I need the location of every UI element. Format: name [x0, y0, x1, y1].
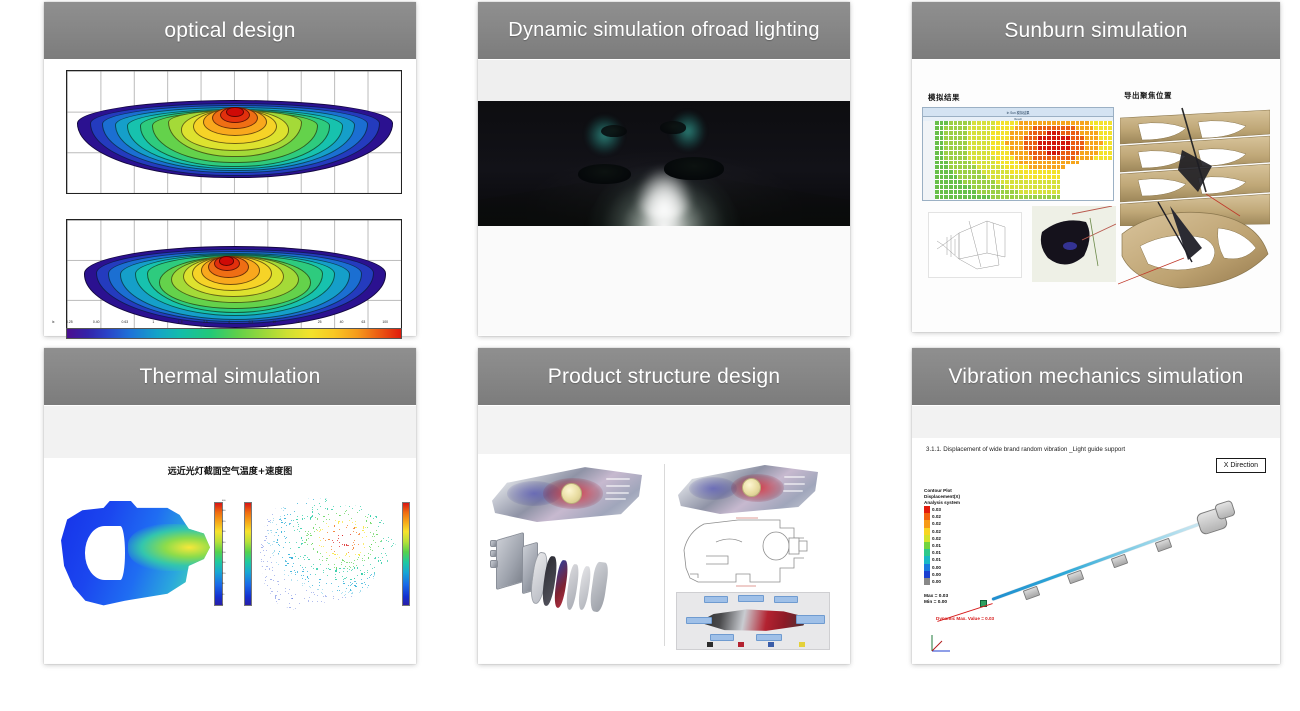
contour-scale-label: 0.00 [932, 572, 941, 577]
vector-dot [337, 554, 338, 555]
vector-dot [390, 523, 391, 524]
vector-dot [276, 595, 277, 596]
vector-dot [378, 607, 379, 608]
vector-dot [325, 596, 326, 597]
vector-dot [306, 503, 307, 504]
vector-dot [387, 561, 388, 562]
support-end-cap [1214, 500, 1236, 521]
vector-dot [382, 591, 383, 592]
vector-dot [376, 602, 377, 603]
vector-dot [371, 607, 372, 608]
vector-dot [264, 555, 265, 556]
vector-dot [307, 516, 308, 517]
vector-dot [335, 520, 336, 521]
vector-dot [358, 598, 359, 599]
vector-dot [367, 572, 368, 573]
vector-dot [374, 567, 375, 568]
panel-body-road-lighting [478, 60, 850, 335]
vector-dot [294, 499, 295, 500]
vector-dot [346, 527, 347, 528]
vector-dot [346, 577, 347, 578]
vector-dot [394, 550, 395, 551]
vector-dot [334, 525, 335, 526]
vector-dot [357, 512, 358, 513]
vector-dot [395, 503, 396, 504]
thermal-caption: 远近光灯截面空气温度+速度图 [44, 464, 416, 477]
vector-dot [294, 511, 295, 512]
vector-dot [264, 526, 265, 527]
vector-dot [358, 557, 359, 558]
vector-dot [360, 503, 361, 504]
colorbar-ticks: 0.250.400.63 11.62.5 46.310 162540 63100 [66, 320, 402, 328]
vector-dot [319, 527, 320, 528]
vector-dot [356, 583, 357, 584]
section-svg [676, 516, 828, 588]
vector-dot [267, 593, 268, 594]
vector-dot [278, 599, 279, 600]
vector-dot [352, 549, 353, 550]
vector-dot [325, 508, 326, 509]
velocity-vector-field [256, 494, 396, 612]
vector-dot [283, 497, 284, 498]
vector-dot [257, 523, 258, 524]
contour-scale-swatch [924, 549, 930, 556]
vector-dot [321, 546, 322, 547]
vector-dot [351, 518, 352, 519]
vector-dot [384, 585, 385, 586]
vector-dot [393, 578, 394, 579]
vector-dot [320, 530, 321, 531]
vector-dot [388, 609, 389, 610]
vector-dot [318, 497, 319, 498]
vector-dot [267, 566, 268, 567]
vector-dot [294, 570, 295, 571]
vector-dot [384, 579, 385, 580]
vector-dot [292, 598, 293, 599]
vector-dot [256, 602, 257, 603]
vector-dot [321, 610, 322, 611]
vector-dot [339, 529, 340, 530]
vector-dot [313, 610, 314, 611]
vector-dot [277, 591, 278, 592]
wireframe-thumbnail [928, 212, 1022, 278]
vector-dot [393, 518, 394, 519]
vector-dot [300, 565, 301, 566]
bracket-cad-illustration [1118, 200, 1272, 296]
vector-dot [352, 522, 353, 523]
vector-dot [329, 555, 330, 556]
vector-dot [379, 522, 380, 523]
vector-dot [383, 583, 384, 584]
vector-dot [378, 603, 379, 604]
vector-dot [345, 597, 346, 598]
vector-dot [388, 577, 389, 578]
vector-dot [256, 535, 257, 536]
vector-dot [275, 603, 276, 604]
vector-dot [259, 521, 260, 522]
vector-dot [339, 494, 340, 495]
vector-dot [278, 503, 279, 504]
panel-optical-design[interactable]: optical design [44, 2, 416, 336]
vector-dot [333, 598, 334, 599]
vector-dot [376, 501, 377, 502]
vector-dot [294, 530, 295, 531]
coordinate-triad [928, 631, 954, 655]
vector-dot [361, 497, 362, 498]
vector-dot [280, 516, 281, 517]
vector-dot [335, 579, 336, 580]
vector-dot [355, 586, 356, 587]
vector-dot [352, 508, 353, 509]
vector-dot [302, 571, 303, 572]
vector-dot [290, 523, 291, 524]
temperature-legend-ticks: 400360320280240 20016012080400 [222, 500, 225, 606]
vector-dot [323, 546, 324, 547]
vector-dot [276, 524, 277, 525]
vector-dot [382, 606, 383, 607]
vector-dot [364, 532, 365, 533]
vector-dot [360, 552, 361, 553]
vector-dot [294, 553, 295, 554]
vector-dot [302, 518, 303, 519]
vector-dot [365, 516, 366, 517]
vector-dot [290, 548, 291, 549]
vector-dot [283, 547, 284, 548]
contour-scale-row: 0.00 [924, 564, 941, 571]
vector-dot [293, 520, 294, 521]
vector-dot [394, 611, 395, 612]
vector-dot [348, 552, 349, 553]
vector-dot [384, 580, 385, 581]
vector-dot [352, 545, 353, 546]
vector-dot [287, 563, 288, 564]
vector-dot [369, 609, 370, 610]
vector-dot [367, 592, 368, 593]
vector-dot [371, 601, 372, 602]
lens-rib [606, 478, 630, 480]
vector-dot [295, 608, 296, 609]
vector-dot [350, 585, 351, 586]
vector-dot [353, 608, 354, 609]
vector-dot [378, 574, 379, 575]
vector-dot [383, 538, 384, 539]
vector-dot [326, 523, 327, 524]
vector-dot [281, 508, 282, 509]
vector-dot [291, 579, 292, 580]
vector-dot [281, 531, 282, 532]
contour-legend-title: Contour Plot Displacement(X) Analysis sy… [924, 488, 960, 505]
vector-dot [313, 549, 314, 550]
vector-dot [349, 556, 350, 557]
vector-dot [378, 570, 379, 571]
vector-dot [304, 598, 305, 599]
vector-dot [308, 531, 309, 532]
vector-dot [390, 527, 391, 528]
vector-dot [376, 600, 377, 601]
vector-dot [278, 500, 279, 501]
vector-dot [284, 574, 285, 575]
vector-dot [321, 601, 322, 602]
vector-dot [260, 605, 261, 606]
vector-dot [350, 589, 351, 590]
vector-dot [384, 588, 385, 589]
vector-dot [310, 574, 311, 575]
vector-dot [356, 565, 357, 566]
vector-dot [392, 545, 393, 546]
vector-dot [316, 605, 317, 606]
vector-dot [263, 581, 264, 582]
vector-dot [356, 610, 357, 611]
vector-dot [312, 585, 313, 586]
vector-dot [301, 575, 302, 576]
panel-road-lighting[interactable]: Dynamic simulation of road lighting [478, 2, 850, 336]
panel-title-thermal: Thermal simulation [44, 348, 416, 406]
vector-dot [322, 560, 323, 561]
vector-dot [338, 535, 339, 536]
vector-dot [263, 528, 264, 529]
vector-dot [278, 497, 279, 498]
vector-dot [326, 519, 327, 520]
vector-dot [288, 575, 289, 576]
contour-scale-label: 0.03 [932, 507, 941, 512]
contour-scale-row: 0.02 [924, 513, 941, 520]
vector-dot [372, 568, 373, 569]
contour-scale-label: 0.00 [932, 579, 941, 584]
vector-dot [354, 596, 355, 597]
vector-dot [293, 526, 294, 527]
vector-dot [366, 536, 367, 537]
vector-dot [289, 589, 290, 590]
vector-dot [361, 573, 362, 574]
vector-dot [362, 537, 363, 538]
vector-dot [336, 610, 337, 611]
vector-dot [257, 519, 258, 520]
vector-dot [261, 510, 262, 511]
vector-dot [292, 566, 293, 567]
vector-dot [270, 522, 271, 523]
vector-dot [295, 495, 296, 496]
vector-dot [378, 560, 379, 561]
vector-dot [317, 601, 318, 602]
vector-dot [353, 531, 354, 532]
vector-dot [266, 550, 267, 551]
vector-dot [349, 502, 350, 503]
vector-dot [350, 534, 351, 535]
vector-dot [381, 575, 382, 576]
slide-band-top [44, 406, 416, 458]
vector-dot [335, 554, 336, 555]
vector-dot [389, 577, 390, 578]
vector-dot [384, 595, 385, 596]
vector-dot [358, 544, 359, 545]
panel-title-product-structure: Product structure design [478, 348, 850, 406]
vector-dot [354, 500, 355, 501]
vector-dot [272, 567, 273, 568]
vector-dot [305, 567, 306, 568]
vector-dot [377, 494, 378, 495]
vector-dot [313, 605, 314, 606]
panel-board: optical design [0, 0, 1300, 711]
heat-cell [1108, 195, 1113, 200]
vector-dot [371, 574, 372, 575]
vector-dot [297, 522, 298, 523]
vector-dot [363, 528, 364, 529]
vector-dot [269, 569, 270, 570]
vector-dot [356, 532, 357, 533]
vector-dot [395, 520, 396, 521]
vector-dot [319, 582, 320, 583]
vector-dot [375, 512, 376, 513]
tree-left [578, 164, 630, 184]
vector-dot [367, 578, 368, 579]
callout-tag [756, 634, 782, 641]
vector-dot [357, 575, 358, 576]
vector-dot [381, 568, 382, 569]
vector-dot [388, 594, 389, 595]
vector-dot [256, 510, 257, 511]
assembled-headlamp [492, 466, 642, 522]
vector-dot [311, 566, 312, 567]
vector-dot [285, 538, 286, 539]
slide-band-top [478, 406, 850, 454]
vector-dot [354, 540, 355, 541]
vector-dot [264, 600, 265, 601]
vector-dot [374, 611, 375, 612]
vector-dot [281, 499, 282, 500]
vector-dot [312, 509, 313, 510]
contour-scale-swatch [924, 571, 930, 578]
vector-dot [359, 592, 360, 593]
vector-dot [313, 592, 314, 593]
vector-dot [281, 607, 282, 608]
vector-dot [262, 573, 263, 574]
vector-dot [287, 514, 288, 515]
vector-dot [256, 580, 257, 581]
legend-swatch [738, 642, 744, 647]
vector-dot [310, 533, 311, 534]
vector-dot [288, 554, 289, 555]
vector-dot [360, 590, 361, 591]
contour-blob-lower [84, 246, 385, 325]
slide-band-top [478, 60, 850, 101]
vector-dot [367, 570, 368, 571]
vector-dot [337, 590, 338, 591]
vector-dot [363, 544, 364, 545]
tree-far-right [660, 121, 686, 134]
vector-dot [384, 602, 385, 603]
tree-far-left [601, 125, 627, 138]
panel-vibration-simulation[interactable]: Vibration mechanics simulation 3.1.1. Di… [912, 348, 1280, 664]
vector-dot [310, 587, 311, 588]
vector-dot [390, 573, 391, 574]
sunburn-heatmap-table[interactable]: In Sun 模拟结果 Result [922, 107, 1114, 201]
vector-dot [341, 564, 342, 565]
vector-dot [291, 580, 292, 581]
vector-dot [267, 494, 268, 495]
vector-dot [331, 549, 332, 550]
vector-dot [391, 607, 392, 608]
contour-scale-swatch [924, 535, 930, 542]
vector-dot [358, 534, 359, 535]
vector-dot [371, 544, 372, 545]
vector-dot [313, 568, 314, 569]
vector-dot [285, 522, 286, 523]
callout-tag [686, 617, 712, 625]
vector-dot [388, 537, 389, 538]
vector-dot [342, 608, 343, 609]
vector-dot [331, 509, 332, 510]
vector-dot [337, 540, 338, 541]
panel-product-structure[interactable]: Product structure design [478, 348, 850, 664]
vector-dot [341, 593, 342, 594]
vector-dot [394, 594, 395, 595]
vector-dot [312, 507, 313, 508]
panel-thermal-simulation[interactable]: Thermal simulation 远近光灯截面空气温度+速度图 400360… [44, 348, 416, 664]
vector-dot [345, 505, 346, 506]
vector-dot [306, 590, 307, 591]
vector-dot [264, 499, 265, 500]
vector-dot [374, 558, 375, 559]
vector-dot [257, 495, 258, 496]
vector-dot [317, 595, 318, 596]
vector-dot [266, 576, 267, 577]
vector-dot [302, 585, 303, 586]
callout-tag [796, 615, 825, 624]
panel-sunburn-simulation[interactable]: Sunburn simulation 模拟结果 导出聚焦位置 In Sun 模拟… [912, 2, 1280, 332]
vector-dot [320, 553, 321, 554]
contour-scale-swatch [924, 520, 930, 527]
vector-dot [276, 562, 277, 563]
vector-dot [369, 577, 370, 578]
vector-dot [303, 575, 304, 576]
vector-dot [312, 607, 313, 608]
x-direction-button[interactable]: X Direction [1216, 458, 1266, 473]
vector-dot [267, 507, 268, 508]
vector-dot [360, 570, 361, 571]
vector-dot [376, 496, 377, 497]
vector-dot [381, 541, 382, 542]
vector-dot [344, 595, 345, 596]
vector-dot [391, 546, 392, 547]
vector-dot [285, 565, 286, 566]
vector-dot [355, 554, 356, 555]
vector-dot [257, 529, 258, 530]
vector-dot [319, 579, 320, 580]
vector-dot [256, 556, 257, 557]
vector-dot [355, 602, 356, 603]
vector-dot [354, 560, 355, 561]
vector-dot [289, 542, 290, 543]
vector-dot [379, 511, 380, 512]
vector-dot [308, 534, 309, 535]
vector-dot [382, 557, 383, 558]
vector-dot [287, 607, 288, 608]
vector-dot [351, 499, 352, 500]
vector-dot [343, 581, 344, 582]
vector-dot [343, 571, 344, 572]
vector-dot [259, 596, 260, 597]
vector-dot [326, 558, 327, 559]
vector-dot [371, 590, 372, 591]
vector-dot [373, 576, 374, 577]
vector-dot [267, 525, 268, 526]
vector-dot [383, 574, 384, 575]
vector-dot [357, 494, 358, 495]
projector-bulb [561, 483, 582, 504]
vector-dot [260, 562, 261, 563]
vector-dot [322, 529, 323, 530]
vector-dot [376, 534, 377, 535]
